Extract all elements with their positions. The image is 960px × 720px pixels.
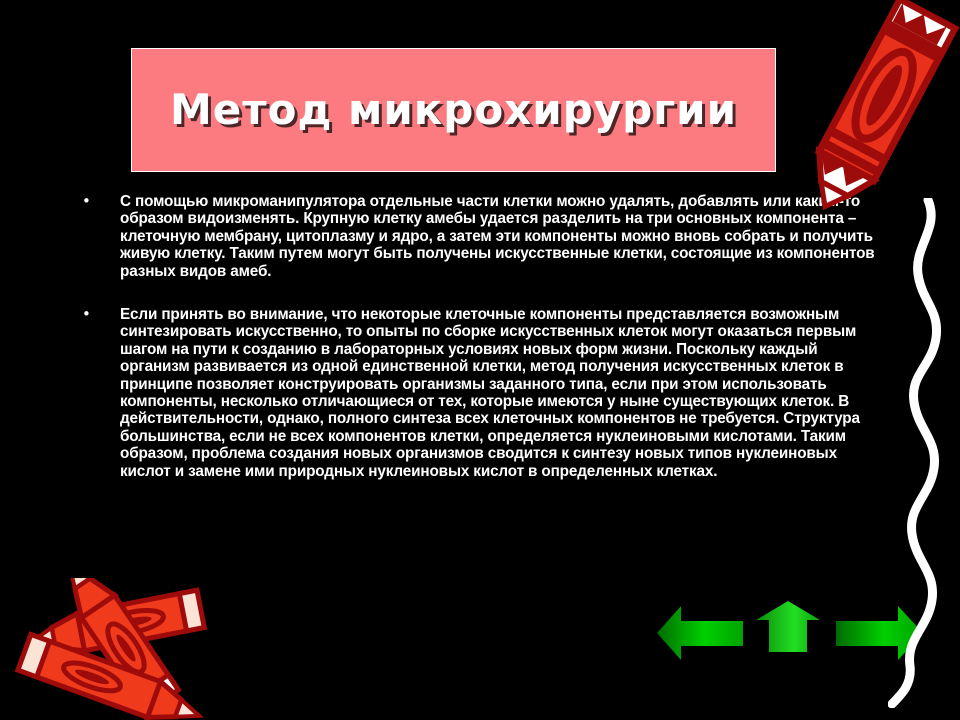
slide-canvas: Метод микрохирургии • С помощью микроман… bbox=[0, 0, 960, 720]
list-item: • Если принять во внимание, что некоторы… bbox=[70, 306, 890, 480]
title-box: Метод микрохирургии bbox=[131, 48, 776, 172]
arrow-up-icon bbox=[756, 601, 820, 652]
bullet-marker-icon: • bbox=[70, 193, 120, 210]
bullet-paragraph-1: С помощью микроманипулятора отдельные ча… bbox=[120, 193, 890, 280]
red-crayon-icon bbox=[788, 0, 960, 224]
bullet-paragraph-2: Если принять во внимание, что некоторые … bbox=[120, 306, 890, 480]
list-item: • С помощью микроманипулятора отдельные … bbox=[70, 193, 890, 280]
red-crayons-cluster-icon bbox=[8, 578, 238, 720]
arrow-left-icon bbox=[657, 606, 743, 660]
body-content: • С помощью микроманипулятора отдельные … bbox=[70, 193, 890, 480]
arrows-group bbox=[655, 596, 925, 666]
wavy-line-icon bbox=[888, 198, 960, 708]
page-title: Метод микрохирургии bbox=[170, 89, 737, 131]
bullet-marker-icon: • bbox=[70, 306, 120, 323]
arrow-right-icon bbox=[836, 606, 923, 660]
